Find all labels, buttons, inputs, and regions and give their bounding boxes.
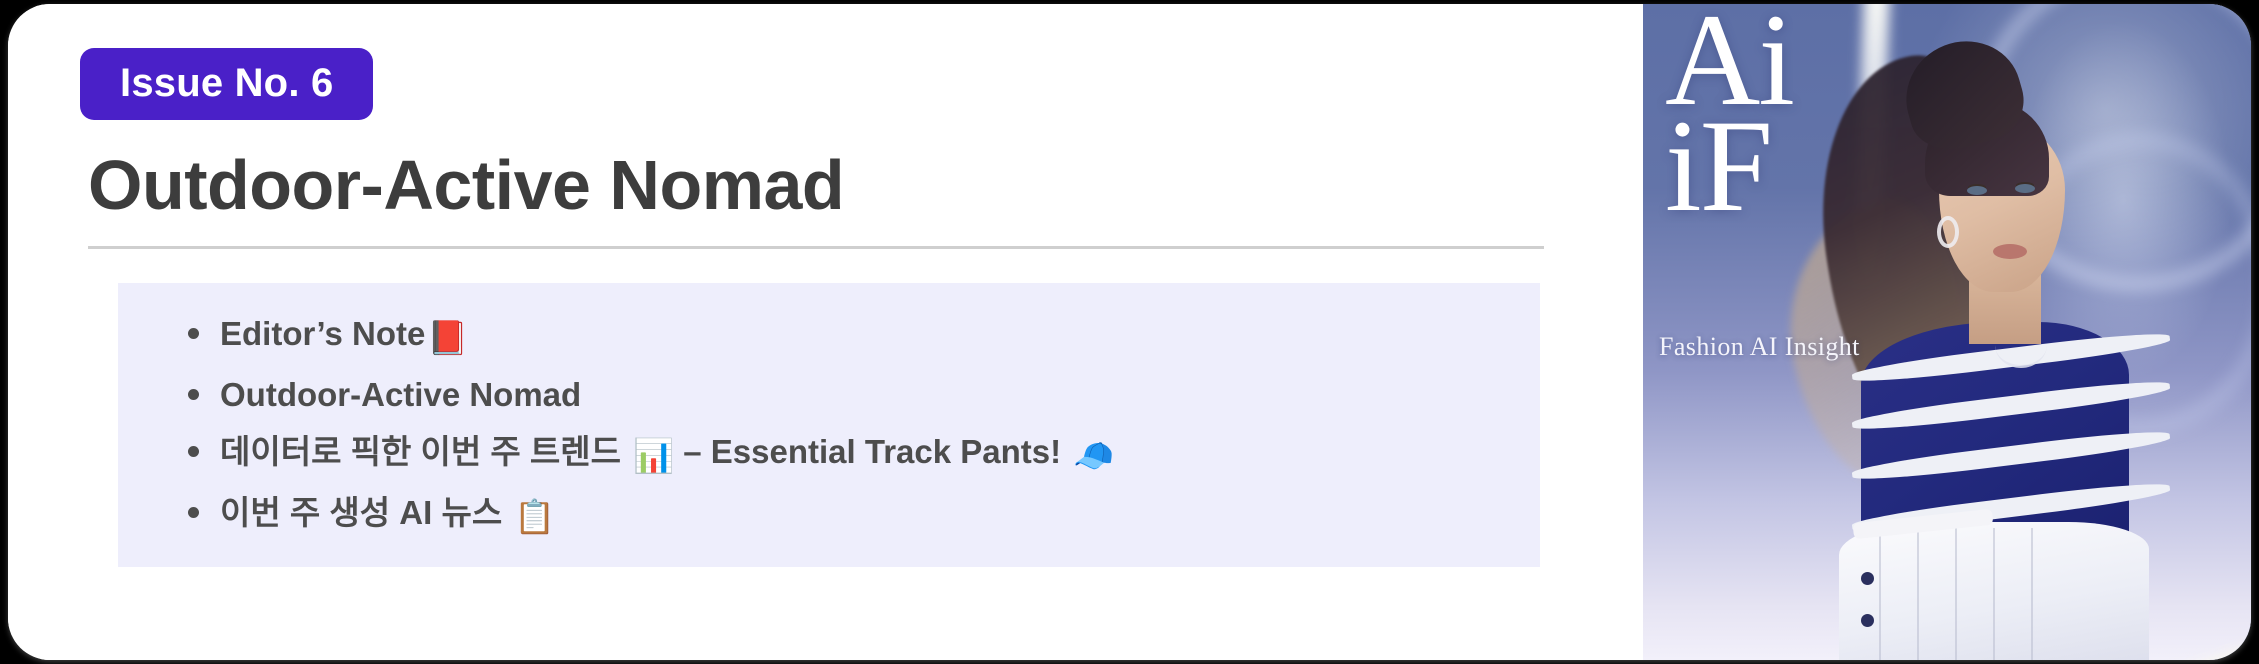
title-divider: [88, 246, 1544, 249]
toc-list: Editor’s Note📕 Outdoor-Active Nomad 데이터로…: [118, 317, 1540, 533]
skirt-button: [1861, 614, 1874, 627]
closed-book-emoji: 📕: [427, 321, 468, 354]
newsletter-card: Issue No. 6 Outdoor-Active Nomad Editor’…: [8, 4, 2251, 660]
bullet-icon: [188, 328, 199, 339]
list-item[interactable]: Outdoor-Active Nomad: [186, 378, 1540, 411]
skirt-pleat: [1879, 528, 1881, 660]
clipboard-emoji: 📋: [514, 500, 555, 533]
skirt-pleat: [2031, 528, 2033, 660]
toc-item-label: 데이터로 픽한 이번 주 트렌드: [220, 433, 621, 470]
model-eye: [1967, 186, 1987, 195]
bullet-icon: [188, 507, 199, 518]
top-stripe: [1851, 377, 2171, 435]
cover-image-panel: Ai iF Fashion AI Insight: [1643, 4, 2251, 660]
table-of-contents-panel: Editor’s Note📕 Outdoor-Active Nomad 데이터로…: [118, 283, 1540, 567]
page-title: Outdoor-Active Nomad: [88, 146, 1643, 224]
content-column: Issue No. 6 Outdoor-Active Nomad Editor’…: [8, 4, 1643, 660]
list-item[interactable]: 이번 주 생성 AI 뉴스📋: [186, 496, 1540, 533]
cover-logo: Ai iF: [1665, 10, 1793, 217]
model-skirt: [1839, 522, 2149, 660]
list-item[interactable]: 데이터로 픽한 이번 주 트렌드📊 – Essential Track Pant…: [186, 435, 1540, 472]
model-earring: [1937, 216, 1959, 248]
model-necklace: [1995, 322, 2047, 368]
skirt-pleat: [1955, 528, 1957, 660]
toc-item-label: 이번 주 생성 AI 뉴스: [220, 494, 502, 531]
skirt-button: [1861, 572, 1874, 585]
model-eye: [2015, 184, 2035, 193]
cover-tagline: Fashion AI Insight: [1659, 332, 1860, 362]
bullet-icon: [188, 389, 199, 400]
toc-item-suffix: – Essential Track Pants!: [683, 433, 1061, 470]
bullet-icon: [188, 446, 199, 457]
toc-item-label: Outdoor-Active Nomad: [220, 376, 581, 413]
list-item[interactable]: Editor’s Note📕: [186, 317, 1540, 354]
issue-badge: Issue No. 6: [80, 48, 373, 120]
billed-cap-emoji: 🧢: [1073, 439, 1114, 472]
skirt-pleat: [1917, 528, 1919, 660]
top-stripe: [1851, 427, 2171, 485]
model-lips: [1993, 244, 2027, 259]
bar-chart-emoji: 📊: [633, 439, 674, 472]
skirt-pleat: [1993, 528, 1995, 660]
toc-item-label: Editor’s Note: [220, 315, 425, 352]
